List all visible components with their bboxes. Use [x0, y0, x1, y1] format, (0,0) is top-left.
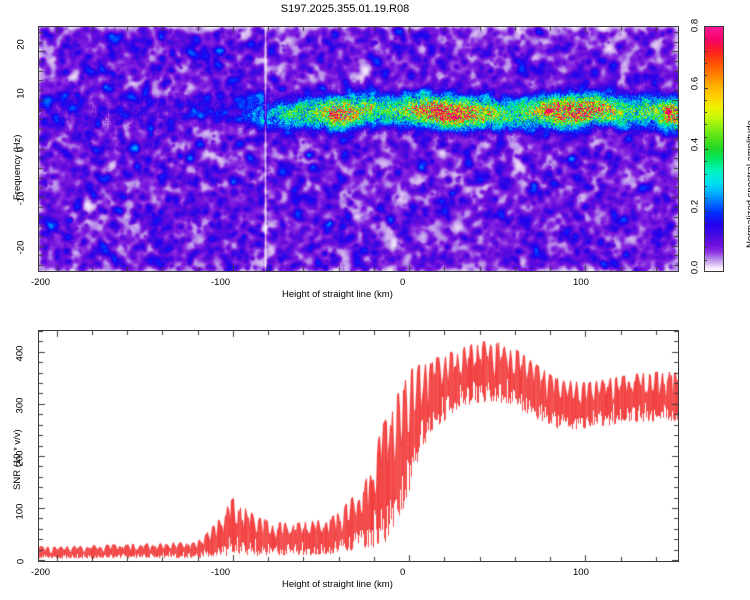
colorbar-tickmark [704, 211, 708, 212]
spec-xaxis-title: Height of straight line (km) [282, 289, 393, 300]
snr-ytick-400: 400 [15, 340, 26, 368]
snr-xtick-neg200: -200 [31, 567, 50, 578]
spec-ytick-neg20: -20 [16, 235, 27, 261]
snr-xtick-100: 100 [573, 567, 589, 578]
colorbar-minor-tickmark [704, 223, 707, 224]
page-title: S197.2025.355.01.19.R08 [0, 3, 690, 15]
figure-root: S197.2025.355.01.19.R08 20 10 0 -10 -20 … [0, 0, 750, 600]
colorbar-minor-tickmark [704, 174, 707, 175]
colorbar-tickmark [704, 88, 708, 89]
spec-ytick-20: 20 [16, 34, 27, 56]
snr-ytick-0: 0 [16, 553, 27, 571]
colorbar-tickmark [704, 271, 708, 272]
spec-xtick-100: 100 [573, 277, 589, 288]
colorbar-tick-4: 0.8 [690, 14, 701, 38]
spec-yaxis-title: Frequency (Hz) [12, 135, 23, 200]
colorbar-minor-tickmark [704, 124, 707, 125]
snr-xtick-neg100: -100 [211, 567, 230, 578]
snr-trace [39, 331, 678, 561]
colorbar-minor-tickmark [704, 260, 707, 261]
colorbar-tickmark [704, 149, 708, 150]
snr-ytick-300: 300 [15, 392, 26, 420]
snr-xtick-0: 0 [400, 567, 405, 578]
colorbar-minor-tickmark [704, 247, 707, 248]
colorbar-title: Normalized spectral amplitude [745, 120, 750, 248]
spec-xtick-neg100: -100 [211, 277, 230, 288]
colorbar-minor-tickmark [704, 161, 707, 162]
snr-panel [38, 330, 679, 562]
colorbar-minor-tickmark [704, 100, 707, 101]
colorbar-minor-tickmark [704, 186, 707, 187]
snr-ytick-100: 100 [15, 498, 26, 526]
colorbar-tick-1: 0.2 [690, 195, 701, 219]
spec-xtick-neg200: -200 [31, 277, 50, 288]
colorbar-minor-tickmark [704, 75, 707, 76]
colorbar-minor-tickmark [704, 63, 707, 64]
colorbar-tick-2: 0.4 [690, 133, 701, 157]
colorbar-minor-tickmark [704, 51, 707, 52]
colorbar-minor-tickmark [704, 137, 707, 138]
colorbar-minor-tickmark [704, 198, 707, 199]
colorbar-minor-tickmark [704, 235, 707, 236]
spectrogram-panel [38, 26, 679, 272]
colorbar-tick-0: 0.0 [690, 256, 701, 280]
spec-ytick-10: 10 [16, 83, 27, 105]
colorbar-minor-tickmark [704, 112, 707, 113]
snr-xaxis-title: Height of straight line (km) [282, 579, 393, 590]
colorbar-ticks [704, 26, 730, 272]
spec-xtick-0: 0 [400, 277, 405, 288]
spectrogram-image [39, 27, 678, 271]
snr-yaxis-title: SNR (10 * v/v) [12, 429, 23, 490]
colorbar-tick-3: 0.6 [690, 72, 701, 96]
colorbar-tickmark [704, 26, 708, 27]
colorbar-minor-tickmark [704, 38, 707, 39]
